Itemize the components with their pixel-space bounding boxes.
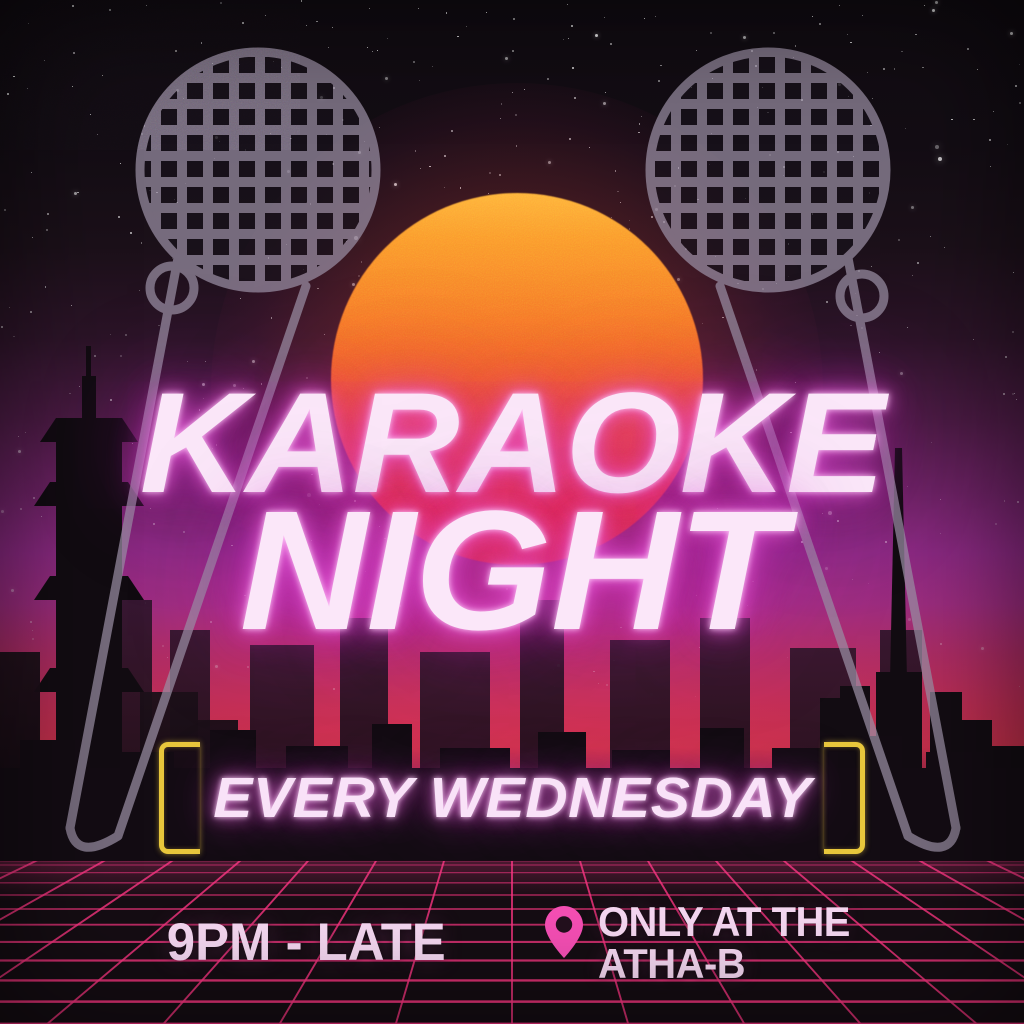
- headline-block: KARAOKE NIGHT: [0, 380, 1024, 648]
- perspective-grid-floor: [0, 861, 1024, 1024]
- title-line-night: NIGHT: [0, 495, 1024, 648]
- bracket-left-icon: [159, 742, 200, 854]
- event-time: 9PM - LATE: [167, 912, 446, 973]
- venue-name: ONLY AT THE ATHA-B: [598, 901, 850, 985]
- venue-group: ONLY AT THE ATHA-B: [544, 901, 863, 985]
- venue-line-2: ATHA-B: [598, 943, 850, 985]
- venue-line-1: ONLY AT THE: [598, 901, 850, 943]
- bracket-right-icon: [824, 742, 865, 854]
- subtitle-row: EVERY WEDNESDAY: [0, 742, 1024, 854]
- karaoke-night-poster: KARAOKE NIGHT EVERY WEDNESDAY 9PM - LATE…: [0, 0, 1024, 1024]
- map-pin-icon: [544, 905, 584, 959]
- subtitle-every-wednesday: EVERY WEDNESDAY: [213, 765, 811, 831]
